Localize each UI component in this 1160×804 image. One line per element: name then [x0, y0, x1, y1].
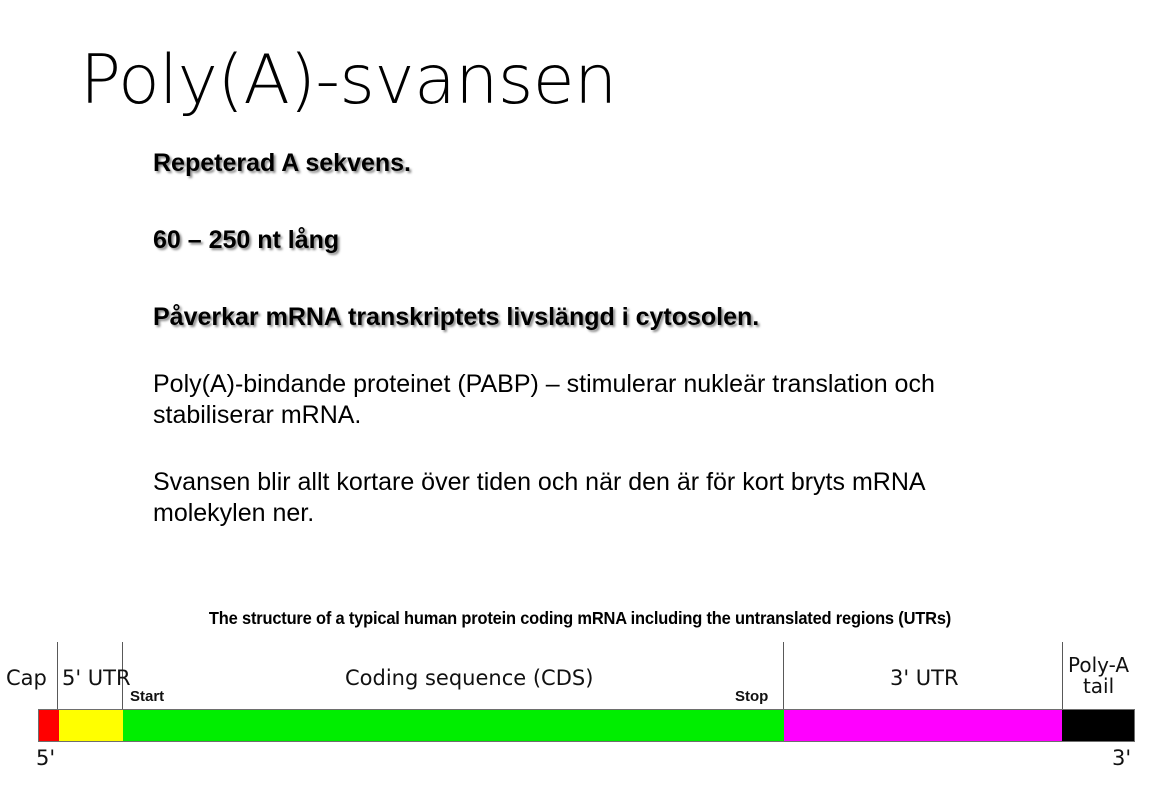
bar-segment-polya-tail: [1062, 710, 1134, 741]
label-cap: Cap: [6, 666, 47, 690]
divider-3utr-polya: [1062, 642, 1063, 710]
label-stop-codon: Stop: [735, 688, 768, 705]
slide-body: Repeterad A sekvens. 60 – 250 nt lång På…: [153, 148, 1053, 529]
divider-cds-3utr: [783, 642, 784, 710]
label-5-prime-end: 5': [36, 746, 55, 770]
bar-segment-cap: [39, 710, 59, 741]
body-line-5: Svansen blir allt kortare över tiden och…: [153, 467, 1013, 529]
label-3-prime-end: 3': [1112, 746, 1131, 770]
body-spacer: [153, 256, 1053, 302]
body-line-3: Påverkar mRNA transkriptets livslängd i …: [153, 302, 1053, 333]
label-5-utr: 5' UTR: [62, 666, 131, 690]
body-line-2: 60 – 250 nt lång: [153, 225, 1053, 256]
label-polya-tail: Poly-A tail: [1068, 655, 1129, 697]
bar-segment-5-utr: [59, 710, 124, 741]
page-title: Poly(A)-svansen: [80, 44, 617, 119]
body-spacer: [153, 333, 1053, 369]
body-spacer: [153, 431, 1053, 467]
mrna-structure-figure: The structure of a typical human protein…: [0, 598, 1160, 804]
label-polya-tail-line2: tail: [1068, 676, 1129, 697]
mrna-bar: [38, 709, 1135, 742]
label-start-codon: Start: [130, 688, 164, 705]
body-line-4: Poly(A)-bindande proteinet (PABP) – stim…: [153, 369, 1013, 431]
body-spacer: [153, 179, 1053, 225]
body-line-1: Repeterad A sekvens.: [153, 148, 1053, 179]
bar-segment-cds: [123, 710, 783, 741]
label-3-utr: 3' UTR: [890, 666, 959, 690]
figure-caption: The structure of a typical human protein…: [35, 608, 1125, 629]
bar-segment-3-utr: [784, 710, 1062, 741]
label-coding-sequence: Coding sequence (CDS): [345, 666, 593, 690]
label-polya-tail-line1: Poly-A: [1068, 655, 1129, 676]
divider-cap-5utr: [57, 642, 58, 710]
